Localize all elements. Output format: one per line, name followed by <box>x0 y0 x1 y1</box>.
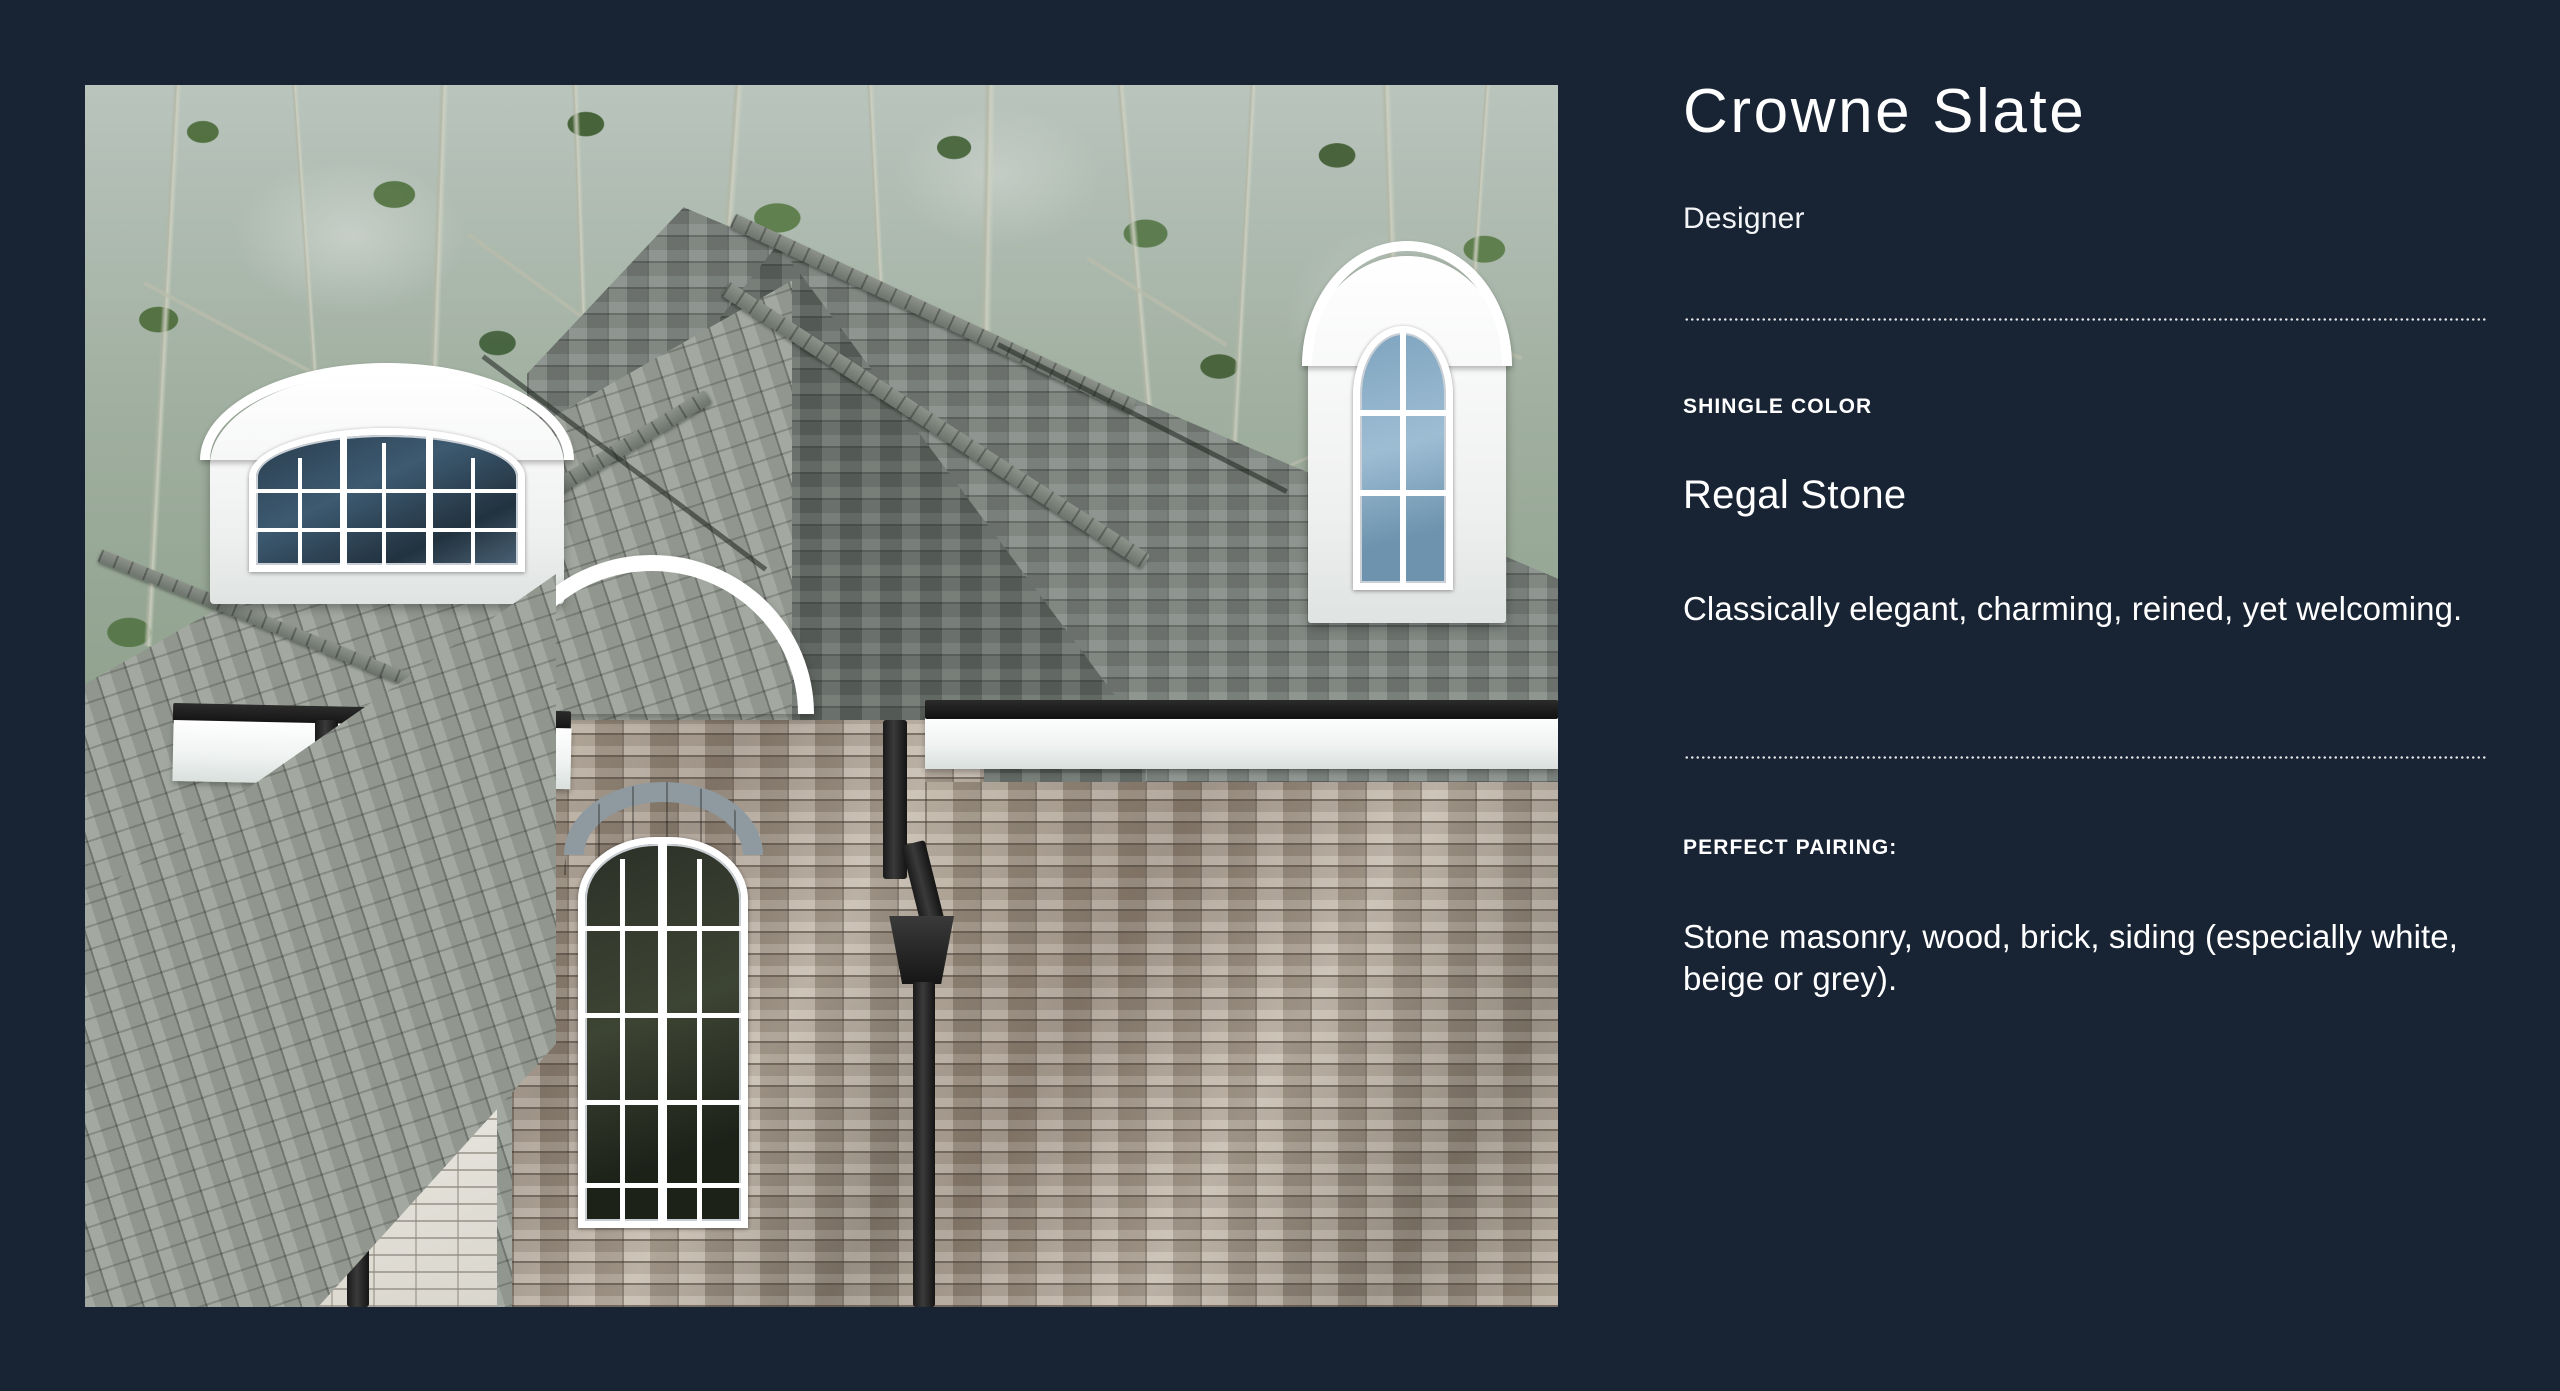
window-mullion-horizontal <box>1360 490 1445 496</box>
window-mullion-horizontal <box>585 1100 740 1105</box>
dormer-left <box>210 372 564 604</box>
shingle-color-name: Regal Stone <box>1683 473 1906 518</box>
product-slide: Crowne Slate Designer SHINGLE COLOR Rega… <box>0 0 2560 1391</box>
window-mullion-horizontal <box>1360 410 1445 416</box>
dormer-right <box>1308 256 1507 623</box>
window-mullion-vertical <box>426 435 433 565</box>
window-mullion-horizontal <box>256 489 518 493</box>
window-mullion-horizontal <box>256 528 518 532</box>
soffit-right <box>925 714 1558 769</box>
window-mullion-vertical <box>340 435 347 565</box>
window-mullion-vertical <box>1400 333 1406 583</box>
window-mullion-vertical <box>382 443 386 565</box>
window-mullion-horizontal <box>585 1183 740 1188</box>
perfect-pairing-label: PERFECT PAIRING: <box>1683 836 1897 860</box>
product-line-subtitle: Designer <box>1683 202 1805 236</box>
window-mullion-horizontal <box>585 1013 740 1018</box>
info-panel: Crowne Slate Designer SHINGLE COLOR Rega… <box>1683 0 2560 1391</box>
dormer-right-window <box>1353 326 1452 590</box>
window-mullion-vertical <box>471 458 475 565</box>
divider-top <box>1684 318 2487 321</box>
gutter-right <box>925 700 1558 720</box>
shingle-color-description: Classically elegant, charming, reined, y… <box>1683 588 2513 630</box>
downspout-right <box>913 982 935 1307</box>
shingle-color-label: SHINGLE COLOR <box>1683 395 1872 419</box>
product-title: Crowne Slate <box>1683 78 2086 146</box>
window-mullion-horizontal <box>585 926 740 931</box>
roof-photo <box>85 85 1558 1307</box>
photo-canvas <box>85 85 1558 1307</box>
dormer-left-window <box>249 428 525 572</box>
window-mullion-vertical <box>658 844 667 1221</box>
divider-bottom <box>1684 756 2487 759</box>
stone-masonry-wall-right <box>925 782 1558 1307</box>
window-mullion-vertical <box>620 859 625 1221</box>
perfect-pairing-description: Stone masonry, wood, brick, siding (espe… <box>1683 916 2513 1000</box>
window-mullion-vertical <box>697 859 702 1221</box>
gable-arched-window <box>578 837 747 1228</box>
window-mullion-vertical <box>298 458 302 565</box>
